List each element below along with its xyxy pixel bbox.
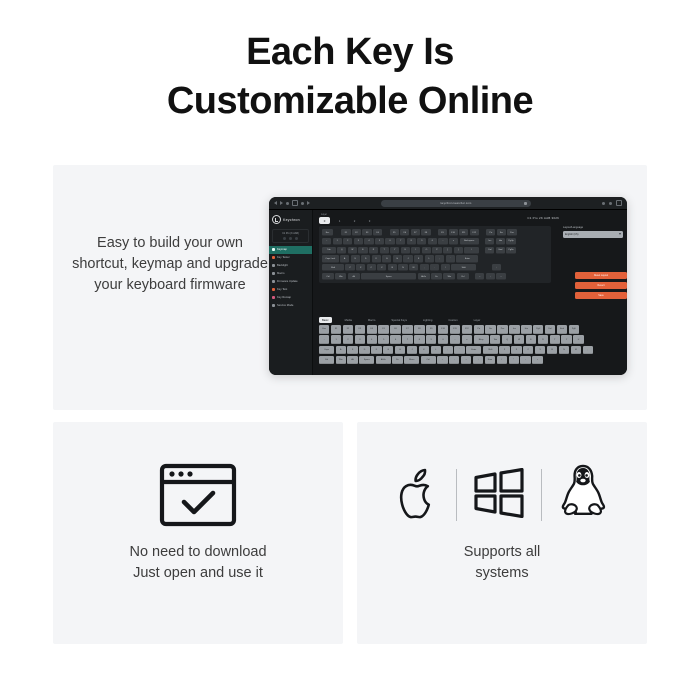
sidebar-item-key-tester[interactable]: Key Tester: [269, 254, 312, 262]
keycode-←[interactable]: ←: [437, 356, 447, 365]
key-↓[interactable]: ↓: [486, 273, 495, 280]
tab-lighting[interactable]: Lighting: [420, 317, 435, 323]
keycode-R[interactable]: R: [538, 335, 548, 344]
tab-custom[interactable]: Custom: [445, 317, 460, 323]
keycode-F8[interactable]: F8: [414, 325, 424, 334]
sidebar-item-label: Key Test: [277, 288, 287, 291]
page-title-line2: Customizable Online: [0, 77, 700, 126]
keycode-B[interactable]: B: [547, 346, 557, 355]
key--[interactable]: -: [438, 238, 447, 245]
service-icon: [272, 304, 275, 307]
keycode-Shift[interactable]: Shift: [483, 346, 498, 355]
keycode-↓[interactable]: ↓: [449, 356, 459, 365]
sidebar-item-key-remap[interactable]: Key Remap: [269, 294, 312, 302]
windows-logo-icon: [473, 468, 525, 523]
layer-button-1[interactable]: 1: [334, 217, 345, 224]
key-remap-icon: [272, 296, 275, 299]
key-Ins[interactable]: Ins: [485, 238, 494, 245]
tab-macro[interactable]: Macro: [365, 317, 378, 323]
key-Shift[interactable]: Shift: [322, 264, 344, 271]
key-Ctrl[interactable]: Ctrl: [457, 273, 469, 280]
keycode-Fn[interactable]: Fn: [392, 356, 402, 365]
feature-description: Easy to build your own shortcut, keymap …: [70, 233, 270, 296]
keycode-W[interactable]: W: [514, 335, 524, 344]
key-.[interactable]: .: [430, 264, 439, 271]
key-tester-icon: [272, 256, 275, 259]
keycode-L[interactable]: L: [431, 346, 441, 355]
firmware-icon: [272, 280, 275, 283]
key-→[interactable]: →: [496, 273, 505, 280]
app-body: Keychron C1 Pro (K AAB) KeymapKey Tester…: [269, 210, 627, 375]
keycode-E[interactable]: E: [526, 335, 536, 344]
keycode-pool-row: CapsASDFGHJKL;'EnterShiftZXCVBNM,: [319, 346, 623, 355]
url-text: keychron.launcher.com: [441, 202, 472, 205]
app-main: Layer 0123 C1 Pro 2K AAB 3026 EscF1F2F3F…: [313, 210, 627, 375]
key-spacer: [480, 238, 484, 245]
keycode--[interactable]: -: [520, 356, 530, 365]
menu-dot-icon[interactable]: [301, 202, 304, 205]
key-M[interactable]: M: [409, 264, 418, 271]
key-Shift[interactable]: Shift: [451, 264, 476, 271]
supports-caption-line1: Supports all: [464, 544, 541, 560]
no-download-caption: No need to download Just open and use it: [129, 542, 266, 583]
keycode-Z[interactable]: Z: [499, 346, 509, 355]
key-][interactable]: ]: [454, 247, 463, 254]
keycode-Pse[interactable]: Pse: [497, 325, 507, 334]
tab-icon[interactable]: [292, 200, 298, 206]
keymap-icon: [272, 248, 275, 251]
sidebar-item-service-mode[interactable]: Service Mode: [269, 302, 312, 310]
device-indicator-dots: [275, 237, 306, 240]
keycode-Del[interactable]: Del: [545, 325, 555, 334]
key-U[interactable]: U: [401, 247, 410, 254]
key-G[interactable]: G: [382, 255, 391, 262]
keycode-3[interactable]: 3: [355, 335, 365, 344]
key-PgDn[interactable]: PgDn: [506, 247, 515, 254]
keycode-F12[interactable]: F12: [462, 325, 472, 334]
key-Esc[interactable]: Esc: [322, 229, 333, 236]
keycode-Caps[interactable]: Caps: [319, 346, 334, 355]
key-Scr[interactable]: Scr: [497, 229, 506, 236]
layer-button-3[interactable]: 3: [364, 217, 375, 224]
key-D[interactable]: D: [361, 255, 370, 262]
window-controls: [602, 200, 622, 206]
keycode-pool[interactable]: EscF1F2F3F4F5F6F7F8F9F10F11F12PrtScrPseI…: [319, 325, 623, 371]
app-sidebar: Keychron C1 Pro (K AAB) KeymapKey Tester…: [269, 210, 313, 375]
key-Fn[interactable]: Fn: [431, 273, 442, 280]
macro-icon: [272, 272, 275, 275]
tab-special-keys[interactable]: Special Keys: [388, 317, 410, 323]
device-label: C1 Pro (K AAB): [275, 232, 306, 235]
keycode-Win[interactable]: Win: [336, 356, 346, 365]
key-←[interactable]: ←: [475, 273, 484, 280]
tab-basic[interactable]: Basic: [319, 317, 332, 323]
keyboard-row: CtrlWinAltSpaceAltGrFnWinCtrl←↓→: [322, 273, 548, 280]
key-Prt[interactable]: Prt: [486, 229, 495, 236]
keycode-Num[interactable]: Num: [485, 356, 495, 365]
key-Win[interactable]: Win: [335, 273, 346, 280]
close-window-icon[interactable]: [616, 200, 622, 206]
keyboard-row: ShiftZXCVBNM,./Shift↑: [322, 264, 548, 271]
chevron-left-icon[interactable]: [274, 201, 277, 205]
action-button-save[interactable]: Save: [575, 292, 627, 299]
device-name: C1 Pro 2K AAB 3026: [527, 216, 559, 220]
sidebar-item-label: Backlight: [277, 264, 288, 267]
keycode-=[interactable]: =: [462, 335, 472, 344]
sidebar-nav: KeymapKey TesterBacklightMacroFirmware U…: [269, 246, 312, 310]
keyboard-row: EscF1F2F3F4F5F6F7F8F9F10F11F12PrtScrPse: [322, 229, 548, 236]
keycode-'[interactable]: ': [454, 346, 464, 355]
keychron-launcher-window: keychron.launcher.com Keychron C1 Pro (K…: [269, 197, 627, 375]
keycode-~[interactable]: ~: [319, 335, 329, 344]
key-spacer: [432, 229, 437, 236]
key-↑[interactable]: ↑: [492, 264, 501, 271]
sidebar-item-label: Macro: [277, 272, 284, 275]
keycode-J[interactable]: J: [407, 346, 417, 355]
keycode-Q[interactable]: Q: [502, 335, 512, 344]
keycode-C[interactable]: C: [523, 346, 533, 355]
key-T[interactable]: T: [380, 247, 389, 254]
key-6[interactable]: 6: [385, 238, 394, 245]
keyboard-row: Caps LockASDFGHJKL;'Enter: [322, 255, 548, 262]
key-Win[interactable]: Win: [443, 273, 455, 280]
key-~[interactable]: ~: [322, 238, 331, 245]
key-F10[interactable]: F10: [449, 229, 458, 236]
no-download-caption-line2: Just open and use it: [133, 565, 263, 581]
keycode-N[interactable]: N: [559, 346, 569, 355]
page-title: Each Key Is Customizable Online: [0, 28, 700, 127]
key-C[interactable]: C: [367, 264, 376, 271]
keycode-5[interactable]: 5: [378, 335, 388, 344]
key-'[interactable]: ': [446, 255, 455, 262]
keycode-pool-row: EscF1F2F3F4F5F6F7F8F9F10F11F12PrtScrPseI…: [319, 325, 623, 334]
keycode-Tab[interactable]: Tab: [490, 335, 500, 344]
key-spacer: [334, 229, 340, 236]
key-B[interactable]: B: [388, 264, 397, 271]
sidebar-item-key-test[interactable]: Key Test: [269, 286, 312, 294]
keycode-F1[interactable]: F1: [331, 325, 341, 334]
key-F9[interactable]: F9: [438, 229, 447, 236]
layer-button-0[interactable]: 0: [319, 217, 330, 224]
divider-2: [541, 469, 542, 521]
keycode-Hm[interactable]: Hm: [521, 325, 531, 334]
maximize-icon[interactable]: [609, 202, 612, 205]
key-0[interactable]: 0: [428, 238, 437, 245]
layout-language-value: English (US): [565, 233, 578, 236]
key-Ctrl[interactable]: Ctrl: [322, 273, 334, 280]
key-Pse[interactable]: Pse: [507, 229, 516, 236]
sidebar-item-label: Key Remap: [277, 296, 291, 299]
key-Z[interactable]: Z: [345, 264, 354, 271]
key-F[interactable]: F: [372, 255, 381, 262]
key-5[interactable]: 5: [375, 238, 384, 245]
keycode-*[interactable]: *: [509, 356, 519, 365]
key-\[interactable]: \: [464, 247, 479, 254]
keycode-↑[interactable]: ↑: [473, 356, 483, 365]
key-PgUp[interactable]: PgUp: [506, 238, 515, 245]
key-F6[interactable]: F6: [400, 229, 409, 236]
no-download-caption-line1: No need to download: [129, 544, 266, 560]
keycode-Prt[interactable]: Prt: [474, 325, 484, 334]
browser-window-check-icon: [159, 464, 237, 526]
layout-language-panel: Layout/Language English (US): [563, 226, 623, 238]
feature-card-supports-all-systems: Supports all systems: [357, 422, 647, 644]
keycode-pool-row: CtrlWinAltSpaceAltGrFnMenuCtrl←↓→↑Num/*-…: [319, 356, 623, 365]
key-Del[interactable]: Del: [485, 247, 494, 254]
keycode-pool-row: ~1234567890-=BkspTabQWERTYU: [319, 335, 623, 344]
sidebar-item-firmware-update[interactable]: Firmware Update: [269, 278, 312, 286]
os-icon-row: [396, 464, 608, 526]
keycode-Ins[interactable]: Ins: [509, 325, 519, 334]
layer-label: Layer: [321, 213, 327, 216]
keycode-→[interactable]: →: [461, 356, 471, 365]
keycode-9[interactable]: 9: [426, 335, 436, 344]
layout-language-select[interactable]: English (US): [563, 231, 623, 238]
chevron-down-icon: [619, 233, 621, 235]
key-F12[interactable]: F12: [470, 229, 479, 236]
keycode-4[interactable]: 4: [367, 335, 377, 344]
keycode-F2[interactable]: F2: [343, 325, 353, 334]
keycode-PgU[interactable]: PgU: [533, 325, 543, 334]
key-I[interactable]: I: [411, 247, 420, 254]
browser-nav-controls: [274, 200, 310, 206]
keycode-Enter[interactable]: Enter: [466, 346, 481, 355]
keycode-0[interactable]: 0: [438, 335, 448, 344]
keycode-X[interactable]: X: [511, 346, 521, 355]
sidebar-item-label: Keymap: [277, 248, 287, 251]
keycode-F7[interactable]: F7: [402, 325, 412, 334]
keycode-K[interactable]: K: [419, 346, 429, 355]
key-F2[interactable]: F2: [352, 229, 361, 236]
keycode-2[interactable]: 2: [343, 335, 353, 344]
key-test-icon: [272, 288, 275, 291]
key-=[interactable]: =: [449, 238, 458, 245]
minimize-icon[interactable]: [602, 202, 605, 205]
key-spacer: [480, 229, 485, 236]
keycode-Scr[interactable]: Scr: [485, 325, 495, 334]
tab-media[interactable]: Media: [342, 317, 355, 323]
keycode-F5[interactable]: F5: [378, 325, 388, 334]
keycode-F4[interactable]: F4: [367, 325, 377, 334]
keycode-M[interactable]: M: [571, 346, 581, 355]
keycode-AltGr[interactable]: AltGr: [376, 356, 391, 365]
key-V[interactable]: V: [377, 264, 386, 271]
keycode-F3[interactable]: F3: [355, 325, 365, 334]
key-8[interactable]: 8: [407, 238, 416, 245]
layer-button-2[interactable]: 2: [349, 217, 360, 224]
layer-selector: 0123: [319, 217, 621, 224]
key-W[interactable]: W: [348, 247, 357, 254]
key-3[interactable]: 3: [354, 238, 363, 245]
key-;[interactable]: ;: [435, 255, 444, 262]
tab-layer[interactable]: Layer: [471, 317, 484, 323]
key-E[interactable]: E: [358, 247, 367, 254]
keycode-Ctrl[interactable]: Ctrl: [319, 356, 334, 365]
keyboard-row: ~1234567890-=BackspaceInsHmPgUp: [322, 238, 548, 245]
keycode-1[interactable]: 1: [331, 335, 341, 344]
keycode-tabs: BasicMediaMacroSpecial KeysLightingCusto…: [319, 317, 483, 323]
keycode-V[interactable]: V: [535, 346, 545, 355]
supports-all-systems-caption: Supports all systems: [464, 542, 541, 583]
key-X[interactable]: X: [356, 264, 365, 271]
key-1[interactable]: 1: [333, 238, 342, 245]
brand-name: Keychron: [283, 218, 300, 222]
key-End[interactable]: End: [496, 247, 505, 254]
key-J[interactable]: J: [403, 255, 412, 262]
key-spacer: [480, 247, 484, 254]
key-L[interactable]: L: [425, 255, 434, 262]
keycode-6[interactable]: 6: [390, 335, 400, 344]
sidebar-item-keymap[interactable]: Keymap: [269, 246, 312, 254]
url-bar[interactable]: keychron.launcher.com: [381, 200, 531, 207]
feature-card-no-download: No need to download Just open and use it: [53, 422, 343, 644]
key-9[interactable]: 9: [417, 238, 426, 245]
keyboard-layout[interactable]: EscF1F2F3F4F5F6F7F8F9F10F11F12PrtScrPse~…: [319, 226, 551, 283]
apple-logo-icon: [396, 466, 440, 525]
keycode-F10[interactable]: F10: [438, 325, 448, 334]
key-F7[interactable]: F7: [411, 229, 420, 236]
keychron-logo-icon: [272, 215, 281, 224]
sidebar-item-label: Firmware Update: [277, 280, 298, 283]
keycode-7[interactable]: 7: [402, 335, 412, 344]
keycode-H[interactable]: H: [395, 346, 405, 355]
keycode-;[interactable]: ;: [443, 346, 453, 355]
keycode-Esc[interactable]: Esc: [319, 325, 329, 334]
key-O[interactable]: O: [422, 247, 431, 254]
keycode-,[interactable]: ,: [583, 346, 593, 355]
key-P[interactable]: P: [432, 247, 441, 254]
key-,[interactable]: ,: [420, 264, 429, 271]
key-F8[interactable]: F8: [421, 229, 430, 236]
keycode-Alt[interactable]: Alt: [347, 356, 357, 365]
brand: Keychron: [269, 213, 312, 228]
key-F3[interactable]: F3: [362, 229, 371, 236]
keycode-A[interactable]: A: [336, 346, 346, 355]
keyboard-row: TabQWERTYUIOP[]\DelEndPgDn: [322, 247, 548, 254]
action-button-revert[interactable]: Revert: [575, 282, 627, 289]
key-Caps Lock[interactable]: Caps Lock: [322, 255, 339, 262]
keycode-F6[interactable]: F6: [390, 325, 400, 334]
browser-titlebar: keychron.launcher.com: [269, 197, 627, 210]
keycode-F[interactable]: F: [371, 346, 381, 355]
key-Alt[interactable]: Alt: [348, 273, 360, 280]
panel-actions: Reset LayoutRevertSave: [575, 272, 627, 299]
chevron-right-icon[interactable]: [280, 201, 283, 205]
key-Tab[interactable]: Tab: [322, 247, 336, 254]
keycode-Bksp[interactable]: Bksp: [474, 335, 489, 344]
close-icon[interactable]: [524, 202, 527, 205]
key-F11[interactable]: F11: [459, 229, 468, 236]
key-Enter[interactable]: Enter: [456, 255, 478, 262]
key-2[interactable]: 2: [343, 238, 352, 245]
sidebar-item-label: Service Mode: [277, 304, 293, 307]
keycode-+[interactable]: +: [532, 356, 542, 365]
key-spacer: [470, 273, 474, 280]
promo-page: Each Key Is Customizable Online Easy to …: [0, 0, 700, 700]
linux-penguin-icon: [558, 464, 608, 527]
key-[[interactable]: [: [443, 247, 452, 254]
sidebar-item-backlight[interactable]: Backlight: [269, 262, 312, 270]
reload-icon[interactable]: [286, 202, 289, 205]
key-Space[interactable]: Space: [361, 273, 416, 280]
key-spacer: [384, 229, 389, 236]
keycode-U[interactable]: U: [573, 335, 583, 344]
key-/[interactable]: /: [441, 264, 450, 271]
supports-caption-line2: systems: [475, 565, 528, 581]
page-title-line1: Each Key Is: [0, 28, 700, 77]
keycode--[interactable]: -: [450, 335, 460, 344]
keycode-PgD[interactable]: PgD: [569, 325, 579, 334]
key-Q[interactable]: Q: [337, 247, 346, 254]
keycode-Ctrl[interactable]: Ctrl: [421, 356, 436, 365]
key-S[interactable]: S: [351, 255, 360, 262]
key-A[interactable]: A: [340, 255, 349, 262]
sidebar-item-label: Key Tester: [277, 256, 290, 259]
keycode-End[interactable]: End: [557, 325, 567, 334]
key-Hm[interactable]: Hm: [496, 238, 505, 245]
keycode-T[interactable]: T: [550, 335, 560, 344]
keycode-G[interactable]: G: [383, 346, 393, 355]
key-H[interactable]: H: [393, 255, 402, 262]
divider: [456, 469, 457, 521]
key-K[interactable]: K: [414, 255, 423, 262]
key-spacer: [477, 264, 490, 271]
key-F5[interactable]: F5: [390, 229, 399, 236]
sidebar-item-macro[interactable]: Macro: [269, 270, 312, 278]
device-selector[interactable]: C1 Pro (K AAB): [272, 229, 309, 243]
key-Y[interactable]: Y: [390, 247, 399, 254]
layout-language-label: Layout/Language: [563, 226, 623, 229]
key-F4[interactable]: F4: [373, 229, 382, 236]
keycode-F9[interactable]: F9: [426, 325, 436, 334]
keycode-8[interactable]: 8: [414, 335, 424, 344]
key-N[interactable]: N: [398, 264, 407, 271]
keycode-F11[interactable]: F11: [450, 325, 460, 334]
key-R[interactable]: R: [369, 247, 378, 254]
keycode-S[interactable]: S: [347, 346, 357, 355]
chevron-right-icon-2[interactable]: [307, 201, 310, 205]
keycode-Space[interactable]: Space: [359, 356, 374, 365]
key-F1[interactable]: F1: [341, 229, 350, 236]
action-button-reset-layout[interactable]: Reset Layout: [575, 272, 627, 279]
keycode-/[interactable]: /: [497, 356, 507, 365]
key-7[interactable]: 7: [396, 238, 405, 245]
key-AltGr[interactable]: AltGr: [418, 273, 430, 280]
key-4[interactable]: 4: [364, 238, 373, 245]
keycode-Menu[interactable]: Menu: [404, 356, 419, 365]
keycode-Y[interactable]: Y: [561, 335, 571, 344]
keycode-D[interactable]: D: [359, 346, 369, 355]
key-Backspace[interactable]: Backspace: [460, 238, 479, 245]
backlight-icon: [272, 264, 275, 267]
